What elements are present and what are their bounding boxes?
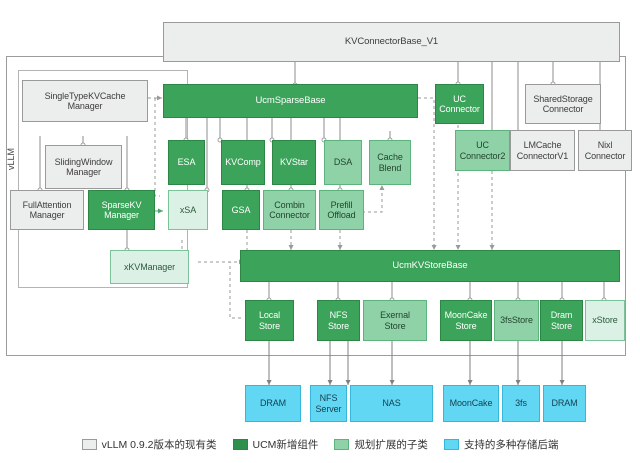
architecture-diagram: vLLM	[0, 0, 640, 463]
legend-label-vllm-existing: vLLM 0.9.2版本的现有类	[102, 437, 217, 452]
legend-item-vllm-existing: vLLM 0.9.2版本的现有类	[82, 437, 217, 452]
store-x[interactable]: xStore	[585, 300, 625, 341]
legend-item-ucm-new: UCM新增组件	[233, 437, 319, 452]
store-3fs[interactable]: 3fsStore	[494, 300, 539, 341]
ucm-kv-store-base[interactable]: UcmKVStoreBase	[240, 250, 620, 282]
x-kv-manager[interactable]: xKVManager	[110, 250, 189, 284]
sparse-algo-combin-connector[interactable]: Combin Connector	[263, 190, 316, 230]
legend-label-planned-subclass: 规划扩展的子类	[354, 437, 428, 452]
legend-swatch-vllm-existing	[82, 439, 97, 450]
legend-swatch-ucm-new	[233, 439, 248, 450]
single-type-kv-cache-manager[interactable]: SingleTypeKVCache Manager	[22, 80, 148, 122]
sparse-algo-kvstar[interactable]: KVStar	[272, 140, 316, 185]
sparse-algo-dsa[interactable]: DSA	[324, 140, 362, 185]
store-external[interactable]: Exernal Store	[363, 300, 427, 341]
sparse-algo-xsa[interactable]: xSA	[168, 190, 208, 230]
backend-nas[interactable]: NAS	[350, 385, 433, 422]
store-dram[interactable]: Dram Store	[540, 300, 583, 341]
sparse-algo-gsa[interactable]: GSA	[222, 190, 260, 230]
legend-swatch-storage-backend	[444, 439, 459, 450]
sparse-algo-prefill-offload[interactable]: Prefill Offload	[319, 190, 364, 230]
lmcache-connector-v1[interactable]: LMCache ConnectorV1	[510, 130, 575, 171]
nixl-connector[interactable]: Nixl Connector	[578, 130, 632, 171]
ucm-sparse-base[interactable]: UcmSparseBase	[163, 84, 418, 118]
backend-dram-remote[interactable]: DRAM	[543, 385, 586, 422]
backend-3fs[interactable]: 3fs	[502, 385, 540, 422]
legend: vLLM 0.9.2版本的现有类 UCM新增组件 规划扩展的子类 支持的多种存储…	[0, 432, 640, 456]
sparse-algo-esa[interactable]: ESA	[168, 140, 205, 185]
legend-label-storage-backend: 支持的多种存储后端	[464, 437, 559, 452]
store-local[interactable]: Local Store	[245, 300, 294, 341]
legend-item-planned-subclass: 规划扩展的子类	[334, 437, 428, 452]
legend-label-ucm-new: UCM新增组件	[253, 437, 319, 452]
uc-connector[interactable]: UC Connector	[435, 84, 484, 124]
legend-item-storage-backend: 支持的多种存储后端	[444, 437, 559, 452]
sliding-window-manager[interactable]: SlidingWindow Manager	[45, 145, 122, 189]
sparse-algo-kvcomp[interactable]: KVComp	[221, 140, 265, 185]
sparse-algo-cache-blend[interactable]: Cache Blend	[369, 140, 411, 185]
backend-mooncake[interactable]: MoonCake	[443, 385, 499, 422]
legend-swatch-planned-subclass	[334, 439, 349, 450]
backend-dram-local[interactable]: DRAM	[245, 385, 301, 422]
shared-storage-connector[interactable]: SharedStorage Connector	[525, 84, 601, 124]
store-nfs[interactable]: NFS Store	[317, 300, 360, 341]
backend-nfs-server[interactable]: NFS Server	[310, 385, 347, 422]
full-attention-manager[interactable]: FullAttention Manager	[10, 190, 84, 230]
uc-connector2[interactable]: UC Connector2	[455, 130, 510, 171]
kv-connector-base-v1[interactable]: KVConnectorBase_V1	[163, 22, 620, 62]
sparse-kv-manager[interactable]: SparseKV Manager	[88, 190, 155, 230]
store-mooncake[interactable]: MoonCake Store	[440, 300, 492, 341]
vllm-frame-label: vLLM	[6, 156, 16, 170]
